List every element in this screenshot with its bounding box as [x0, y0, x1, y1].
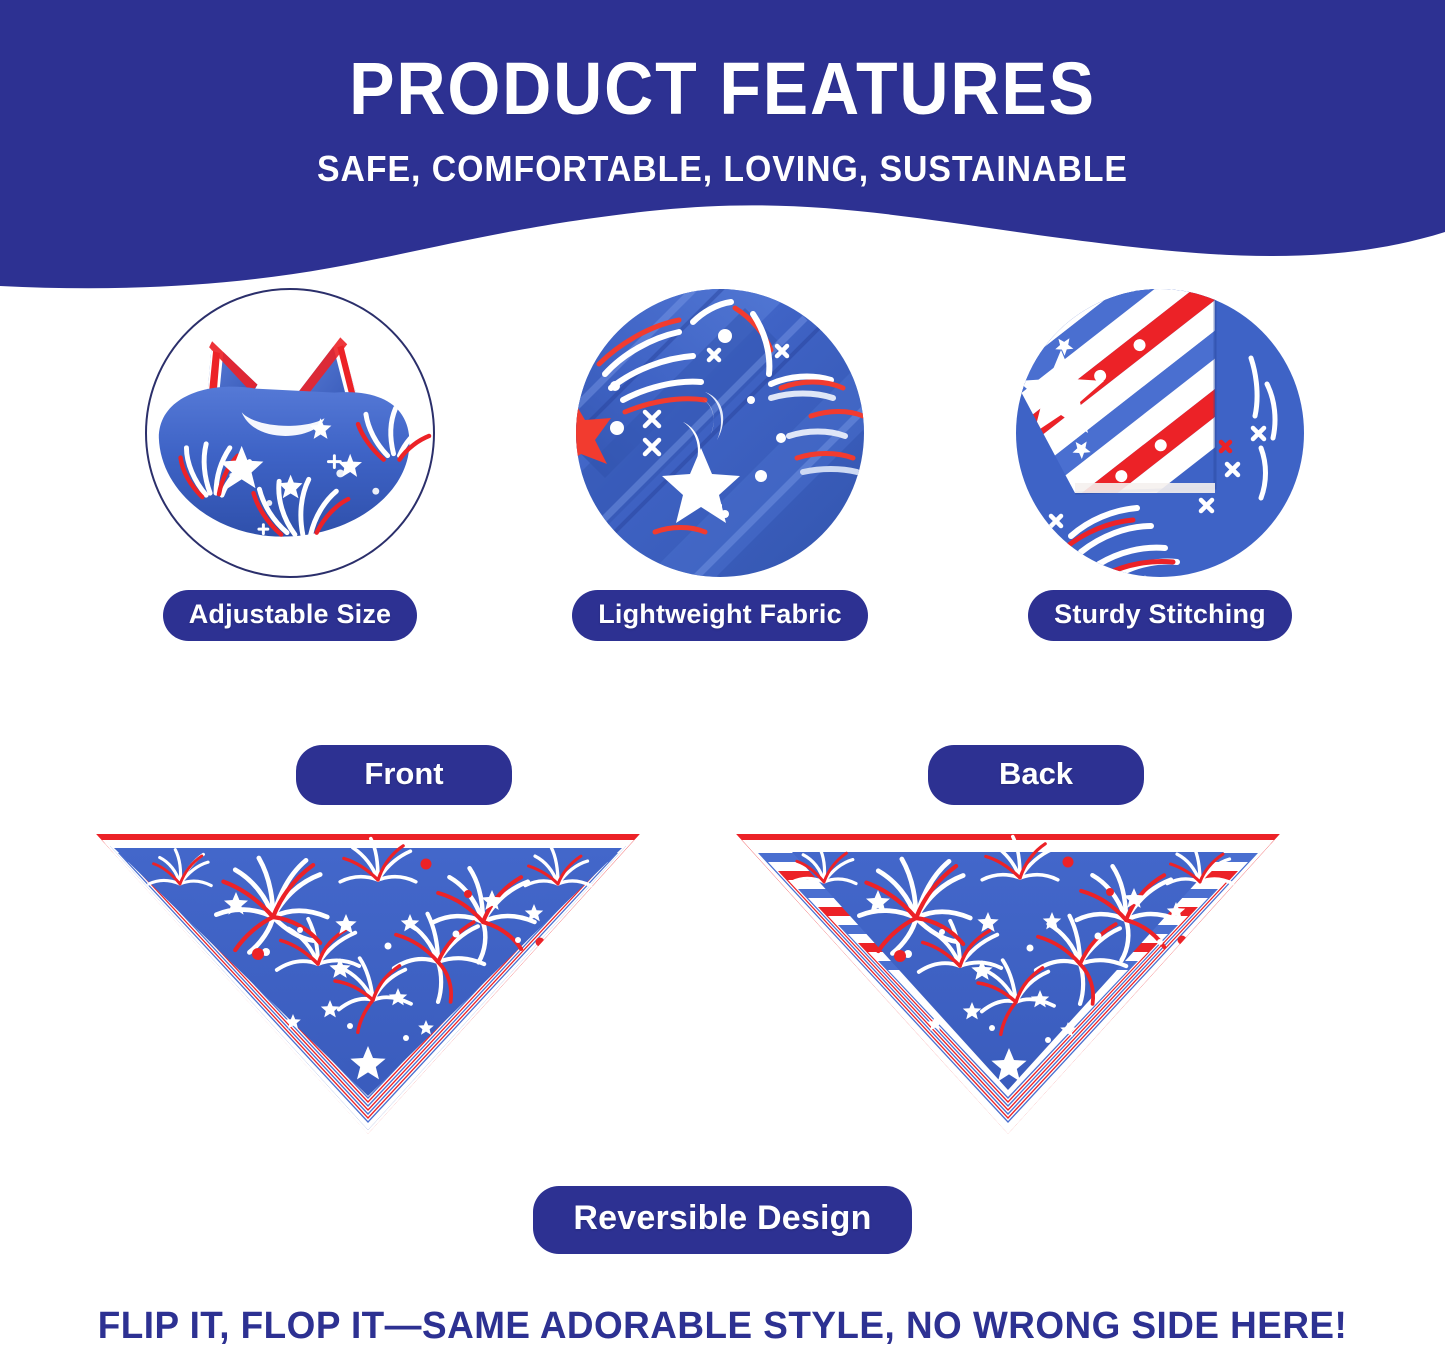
footer-tagline: FLIP IT, FLOP IT—SAME ADORABLE STYLE, NO…: [22, 1305, 1424, 1348]
feature-label-sturdy-stitching: Sturdy Stitching: [1028, 590, 1292, 641]
front-label: Front: [296, 745, 512, 805]
feature-image-adjustable-size: [145, 288, 435, 578]
feature-image-sturdy-stitching: [1015, 288, 1305, 578]
feature-image-lightweight-fabric: [575, 288, 865, 578]
feature-card-sturdy-stitching: Sturdy Stitching: [1010, 288, 1310, 641]
feature-label-lightweight-fabric: Lightweight Fabric: [572, 590, 868, 641]
feature-card-adjustable-size: Adjustable Size: [140, 288, 440, 641]
back-label: Back: [928, 745, 1144, 805]
reversible-design-label: Reversible Design: [533, 1186, 911, 1254]
product-features-infographic: PRODUCT FEATURES SAFE, COMFORTABLE, LOVI…: [0, 0, 1445, 1365]
feature-card-lightweight-fabric: Lightweight Fabric: [570, 288, 870, 641]
feature-label-adjustable-size: Adjustable Size: [163, 590, 418, 641]
bandana-front-image: [88, 822, 648, 1142]
feature-circles-row: Adjustable Size: [0, 288, 1445, 658]
header-banner: PRODUCT FEATURES SAFE, COMFORTABLE, LOVI…: [0, 0, 1445, 300]
header-wave-shape: [0, 0, 1445, 300]
front-back-label-row: Front Back: [0, 745, 1445, 817]
bandana-back-image: [728, 822, 1288, 1142]
reversible-design-row: Reversible Design: [0, 1186, 1445, 1254]
